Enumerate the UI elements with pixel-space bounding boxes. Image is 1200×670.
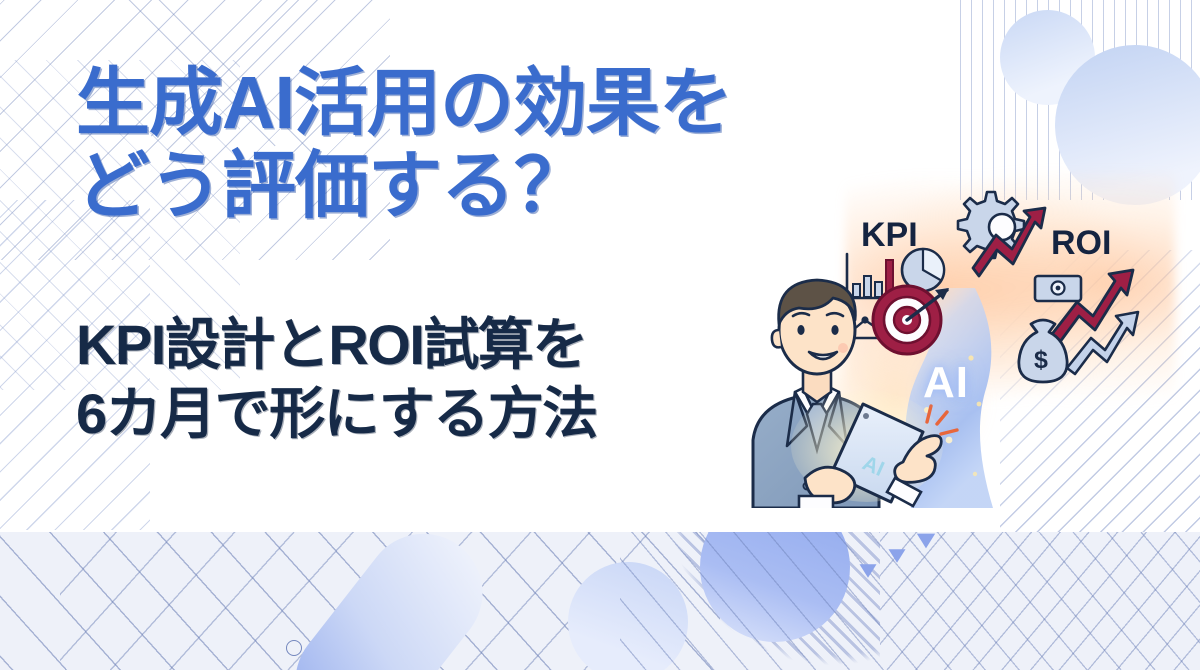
roi-label: ROI xyxy=(1051,224,1111,262)
hero-banner: 生成AI活用の効果を どう評価する？ KPI設計とROI試算を 6カ月で形にする… xyxy=(0,0,1200,670)
vertical-stripe-pattern-top-right xyxy=(960,0,1200,200)
band-diagonal-lines xyxy=(60,532,660,670)
ring-outline-shape xyxy=(286,640,302,656)
money-symbol: $ xyxy=(1034,346,1048,374)
triangle-shape xyxy=(860,564,877,578)
page-subtitle: KPI設計とROI試算を 6カ月で形にする方法 xyxy=(76,310,776,449)
decorative-circle xyxy=(1000,10,1095,105)
decorative-circle xyxy=(568,562,688,670)
decorative-circle xyxy=(700,532,850,642)
band-diagonal-lines xyxy=(0,532,720,670)
band-hatch-block xyxy=(640,532,880,670)
roi-icon-cluster: ROI $ xyxy=(1019,224,1138,382)
page-title: 生成AI活用の効果を どう評価する？ xyxy=(76,62,776,228)
title-line-2: どう評価する？ xyxy=(76,145,776,228)
hero-illustration: KPI xyxy=(735,178,1155,508)
subtitle-line-2: 6カ月で形にする方法 xyxy=(76,379,776,448)
band-diagonal-lines xyxy=(620,532,1200,670)
triangle-shape xyxy=(917,534,935,549)
band-diagonal-lines xyxy=(880,532,1200,670)
title-line-1: 生成AI活用の効果を xyxy=(76,62,776,145)
growth-arrow-blue-icon xyxy=(1067,312,1138,374)
capsule-shape xyxy=(272,532,507,670)
triangle-shape xyxy=(889,549,906,563)
banknote-icon xyxy=(1035,276,1081,301)
gear-trend-icon-group xyxy=(958,192,1045,276)
ai-stream-label: AI xyxy=(923,358,969,408)
kpi-label: KPI xyxy=(861,216,918,254)
subtitle-line-1: KPI設計とROI試算を xyxy=(76,310,776,379)
bottom-decorative-band xyxy=(0,532,1200,670)
illustration-svg: KPI xyxy=(735,178,1155,508)
kpi-icon-cluster: KPI xyxy=(847,216,949,354)
